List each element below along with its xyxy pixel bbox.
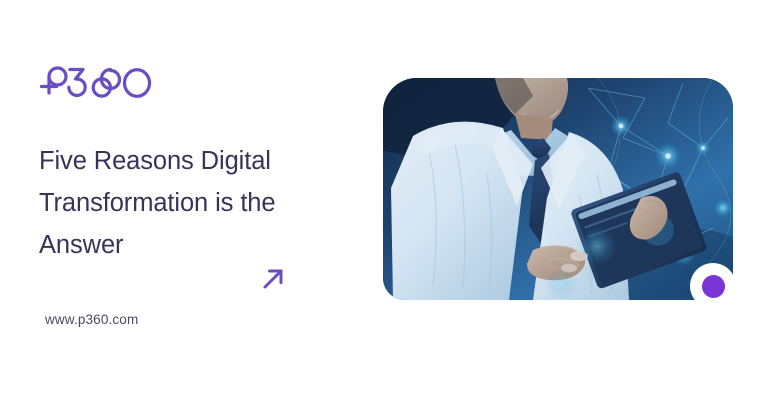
marketing-banner: Five Reasons Digital Transformation is t… <box>0 0 768 404</box>
badge-dot-icon <box>702 275 725 298</box>
arrow-up-right-icon[interactable] <box>256 262 290 296</box>
website-url[interactable]: www.p360.com <box>45 312 138 327</box>
content-column: Five Reasons Digital Transformation is t… <box>0 0 370 404</box>
accent-badge <box>690 263 736 309</box>
doctor-tablet-photo <box>383 78 733 300</box>
page-title: Five Reasons Digital Transformation is t… <box>39 140 339 266</box>
hero-image-container <box>383 78 733 300</box>
p360-plus-logo-icon <box>40 62 156 106</box>
p360-logo[interactable] <box>40 62 156 106</box>
